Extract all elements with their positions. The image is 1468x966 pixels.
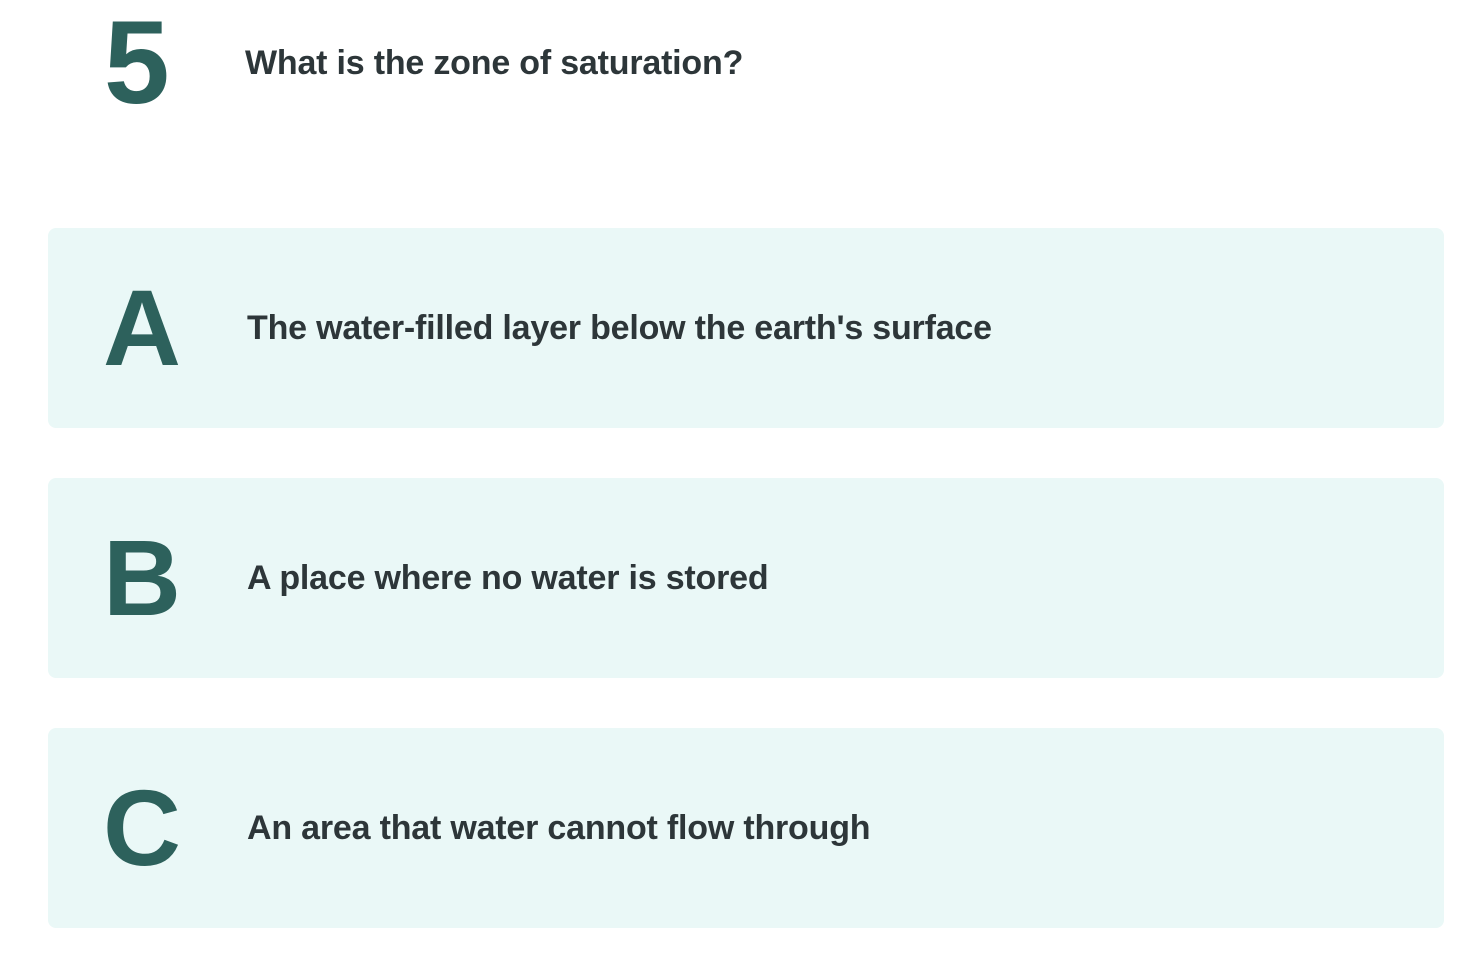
question-number: 5	[0, 0, 200, 127]
answer-option-b[interactable]: B A place where no water is stored	[48, 478, 1444, 678]
answer-option-text: A place where no water is stored	[200, 556, 1444, 600]
question-text: What is the zone of saturation?	[200, 0, 1468, 85]
answer-option-letter: B	[48, 524, 200, 632]
answer-option-letter: A	[48, 274, 200, 382]
answer-option-text: The water-filled layer below the earth's…	[200, 306, 1444, 350]
answer-options-list: A The water-filled layer below the earth…	[48, 228, 1444, 928]
answer-option-letter: C	[48, 774, 200, 882]
answer-option-c[interactable]: C An area that water cannot flow through	[48, 728, 1444, 928]
answer-option-text: An area that water cannot flow through	[200, 806, 1444, 850]
quiz-page: 5 What is the zone of saturation? A The …	[0, 0, 1468, 966]
question-header: 5 What is the zone of saturation?	[0, 0, 1468, 200]
answer-option-a[interactable]: A The water-filled layer below the earth…	[48, 228, 1444, 428]
